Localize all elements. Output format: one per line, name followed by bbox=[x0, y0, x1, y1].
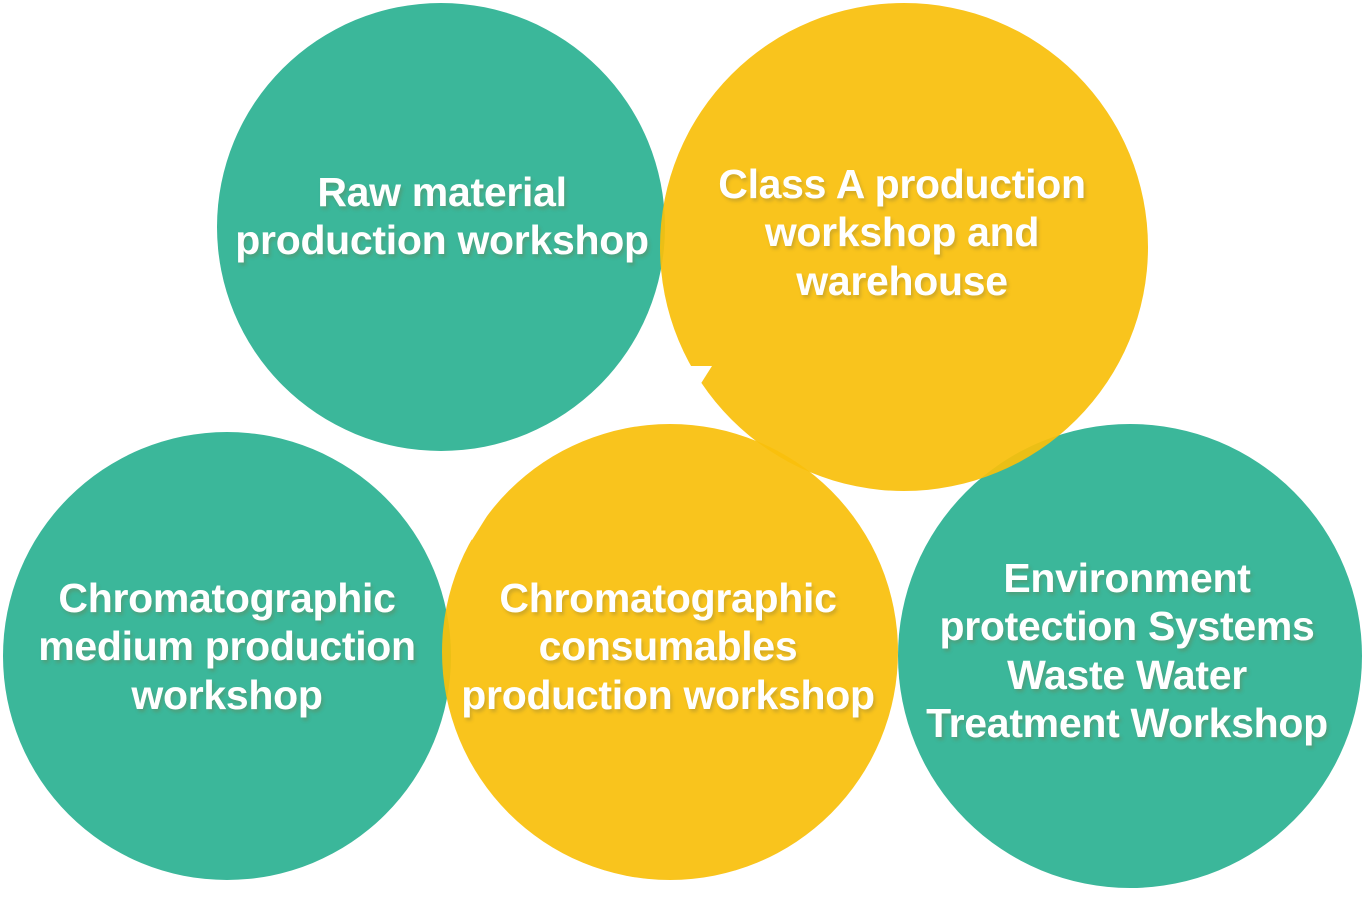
venn-diagram: Raw material production workshop Class A… bbox=[0, 0, 1368, 898]
circle-chromatographic-medium[interactable] bbox=[3, 432, 451, 880]
notch-wedge-bottom-right-pair bbox=[870, 498, 921, 538]
venn-circles-canvas bbox=[0, 0, 1368, 898]
circle-chromatographic-consumables[interactable] bbox=[442, 424, 898, 880]
circle-environment-protection[interactable] bbox=[898, 424, 1362, 888]
circle-class-a[interactable] bbox=[660, 3, 1148, 491]
circle-raw-material[interactable] bbox=[217, 3, 665, 451]
